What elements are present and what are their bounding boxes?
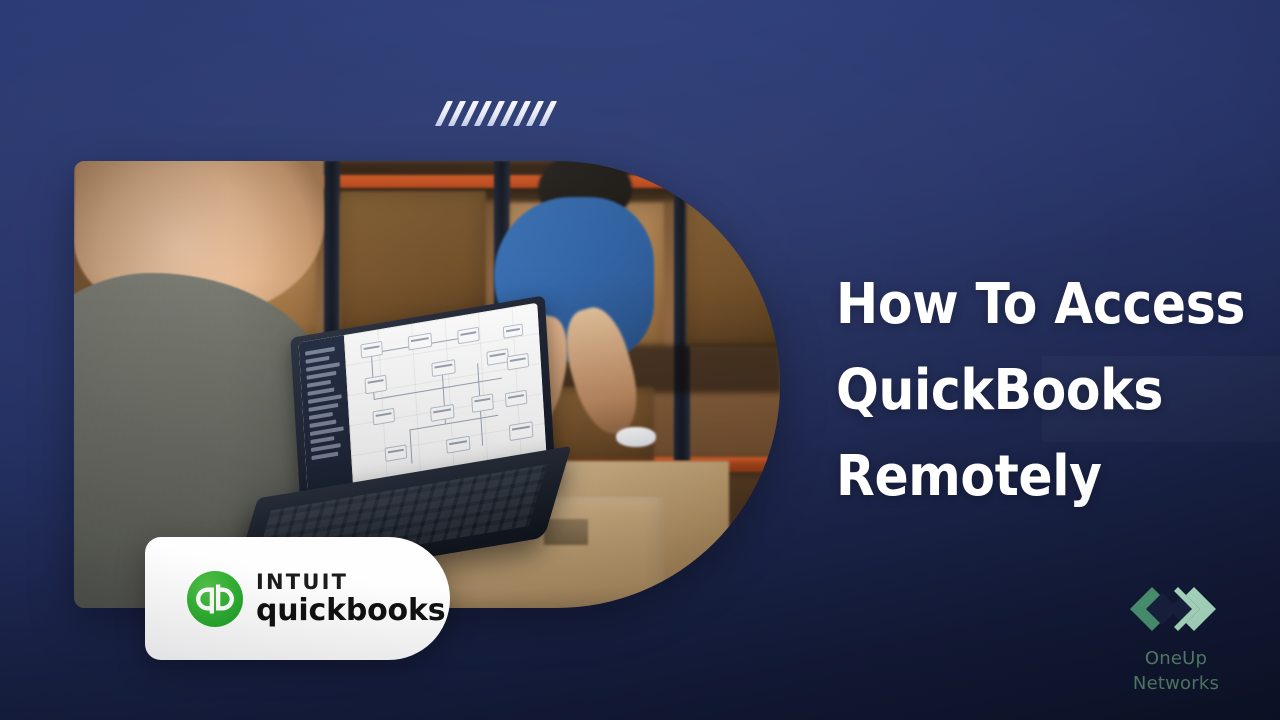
quickbooks-logo-card: INTUIT quickbooks xyxy=(145,537,450,660)
title-line-2: QuickBooks xyxy=(836,348,1223,434)
worker-glove-right xyxy=(616,427,656,447)
quickbooks-label: quickbooks xyxy=(256,596,445,626)
oneup-networks-name: OneUp Networks xyxy=(1112,646,1240,696)
quickbooks-qb-icon xyxy=(187,571,243,627)
title-line-1: How To Access xyxy=(836,262,1223,348)
oneup-chevrons-icon xyxy=(1116,583,1236,635)
page-title: How To Access QuickBooks Remotely xyxy=(836,262,1266,520)
oneup-networks-logo: OneUp Networks xyxy=(1112,583,1240,695)
diagonal-slashes-icon xyxy=(441,101,559,127)
intuit-label: INTUIT xyxy=(256,572,445,593)
title-line-3: Remotely xyxy=(836,434,1223,520)
quickbooks-wordmark: INTUIT quickbooks xyxy=(256,572,445,626)
laptop xyxy=(242,317,572,567)
brand-name-line-1: OneUp xyxy=(1112,646,1240,671)
brand-name-line-2: Networks xyxy=(1112,671,1240,696)
slide-canvas: INTUIT quickbooks How To Access QuickBoo… xyxy=(0,0,1280,720)
